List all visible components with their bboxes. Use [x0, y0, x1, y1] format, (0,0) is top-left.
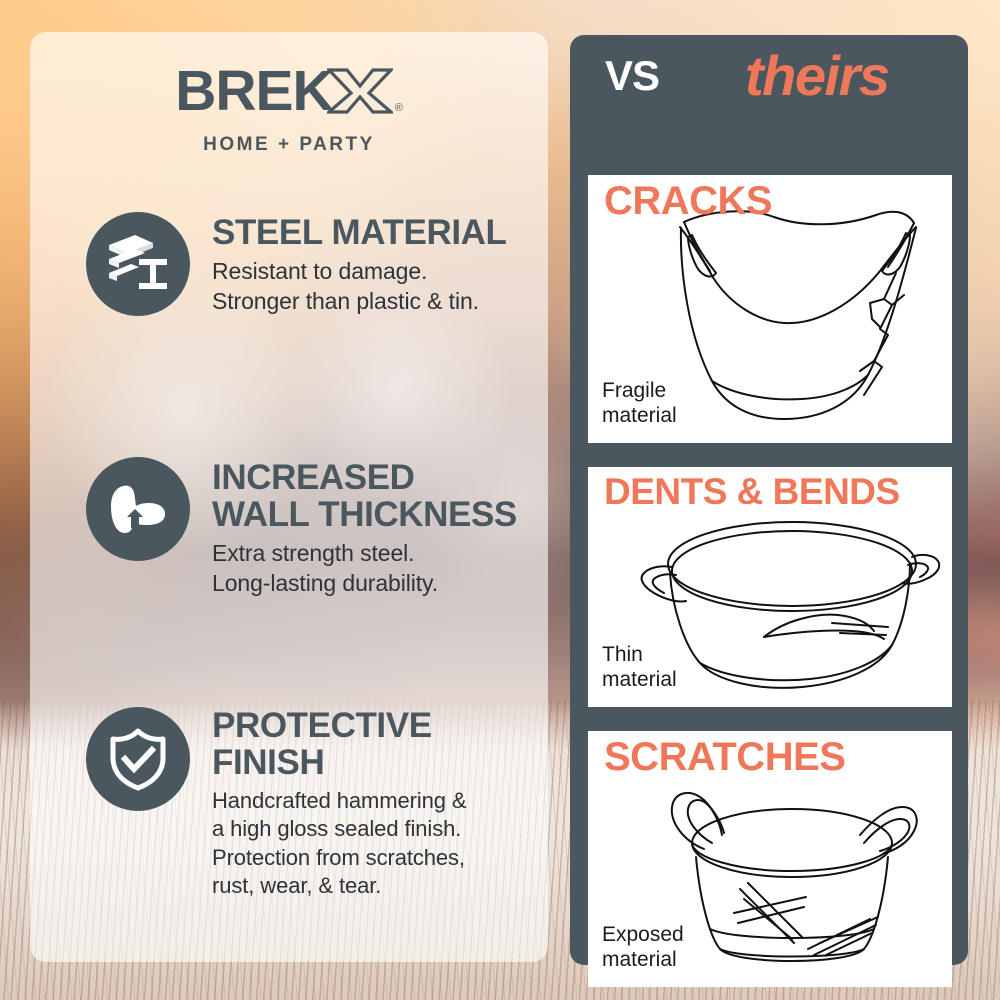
vs-header: VS theirs — [587, 35, 951, 103]
feature-title: STEEL MATERIAL — [212, 214, 522, 251]
comparison-card-title: SCRATCHES — [604, 737, 845, 777]
comparison-card-caption: Thin material — [602, 643, 677, 693]
brand-logo: BREK ® HOME + PARTY — [30, 32, 548, 156]
feature-title: INCREASED WALL THICKNESS — [212, 459, 522, 533]
comparison-card-scratches: SCRATCHES Exposed material — [588, 731, 952, 987]
brand-features-panel: BREK ® HOME + PARTY — [30, 32, 548, 962]
shield-check-icon — [86, 707, 190, 811]
comparison-card-dents: DENTS & BENDS Thin material — [588, 467, 952, 707]
logo-x-icon — [327, 66, 393, 121]
logo-wordmark: BREK ® — [30, 62, 548, 120]
registered-trademark-symbol: ® — [395, 102, 403, 114]
feature-steel-material: STEEL MATERIAL Resistant to damage. Stro… — [86, 212, 522, 316]
feature-protective-finish: PROTECTIVE FINISH Handcrafted hammering … — [86, 707, 522, 900]
vs-label: VS — [605, 52, 659, 100]
comparison-card-caption: Fragile material — [602, 379, 677, 429]
logo-text-brek: BREK — [175, 63, 333, 120]
feature-steel-text: STEEL MATERIAL Resistant to damage. Stro… — [212, 212, 522, 316]
comparison-panel: VS theirs CRACKS Fragile material — [570, 35, 968, 965]
comparison-card-title: DENTS & BENDS — [604, 473, 900, 510]
theirs-label: theirs — [745, 48, 889, 104]
feature-protective-finish-text: PROTECTIVE FINISH Handcrafted hammering … — [212, 707, 522, 900]
comparison-card-title: CRACKS — [604, 181, 772, 221]
flexed-bicep-icon — [86, 457, 190, 561]
steel-beams-icon — [86, 212, 190, 316]
feature-wall-thickness: INCREASED WALL THICKNESS Extra strength … — [86, 457, 522, 598]
feature-wall-thickness-text: INCREASED WALL THICKNESS Extra strength … — [212, 457, 522, 598]
feature-body: Extra strength steel. Long-lasting durab… — [212, 539, 522, 598]
feature-title: PROTECTIVE FINISH — [212, 707, 522, 781]
comparison-card-cracks: CRACKS Fragile material — [588, 175, 952, 443]
feature-body: Resistant to damage. Stronger than plast… — [212, 257, 522, 316]
logo-tagline: HOME + PARTY — [30, 134, 548, 156]
feature-body: Handcrafted hammering & a high gloss sea… — [212, 787, 522, 900]
comparison-card-caption: Exposed material — [602, 923, 684, 973]
